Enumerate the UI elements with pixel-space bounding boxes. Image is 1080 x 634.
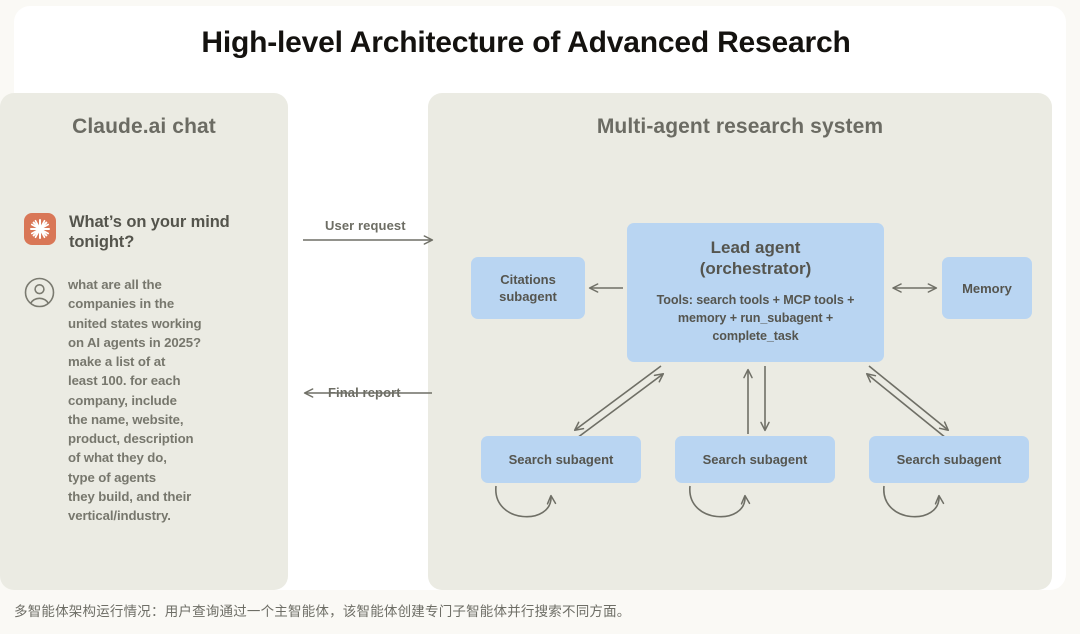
node-memory[interactable]: Memory xyxy=(942,257,1032,319)
final-report-label: Final report xyxy=(328,385,401,400)
lead-agent-tools: Tools: search tools + MCP tools + memory… xyxy=(635,292,876,346)
claude-starburst-icon xyxy=(24,213,56,245)
user-request-label: User request xyxy=(325,218,406,233)
user-avatar-icon xyxy=(24,277,55,308)
lead-agent-title: Lead agent (orchestrator) xyxy=(700,237,811,279)
user-message-text: what are all the companies in the united… xyxy=(68,275,201,525)
claude-chat-panel: Claude.ai chat xyxy=(0,93,288,590)
node-search-subagent-3[interactable]: Search subagent xyxy=(869,436,1029,483)
node-citations-subagent[interactable]: Citations subagent xyxy=(471,257,585,319)
node-search-subagent-2[interactable]: Search subagent xyxy=(675,436,835,483)
page-title: High-level Architecture of Advanced Rese… xyxy=(0,26,1052,60)
assistant-prompt-text: What’s on your mind tonight? xyxy=(69,213,249,253)
node-search-subagent-1[interactable]: Search subagent xyxy=(481,436,641,483)
figure-caption: 多智能体架构运行情况：用户查询通过一个主智能体，该智能体创建专门子智能体并行搜索… xyxy=(14,600,631,620)
claude-chat-panel-title: Claude.ai chat xyxy=(0,115,288,139)
assistant-message-row: What’s on your mind tonight? xyxy=(24,213,249,253)
user-message-row: what are all the companies in the united… xyxy=(24,275,201,525)
multi-agent-system-panel-title: Multi-agent research system xyxy=(428,115,1052,139)
node-lead-agent[interactable]: Lead agent (orchestrator) Tools: search … xyxy=(627,223,884,362)
diagram-root: High-level Architecture of Advanced Rese… xyxy=(0,0,1080,634)
